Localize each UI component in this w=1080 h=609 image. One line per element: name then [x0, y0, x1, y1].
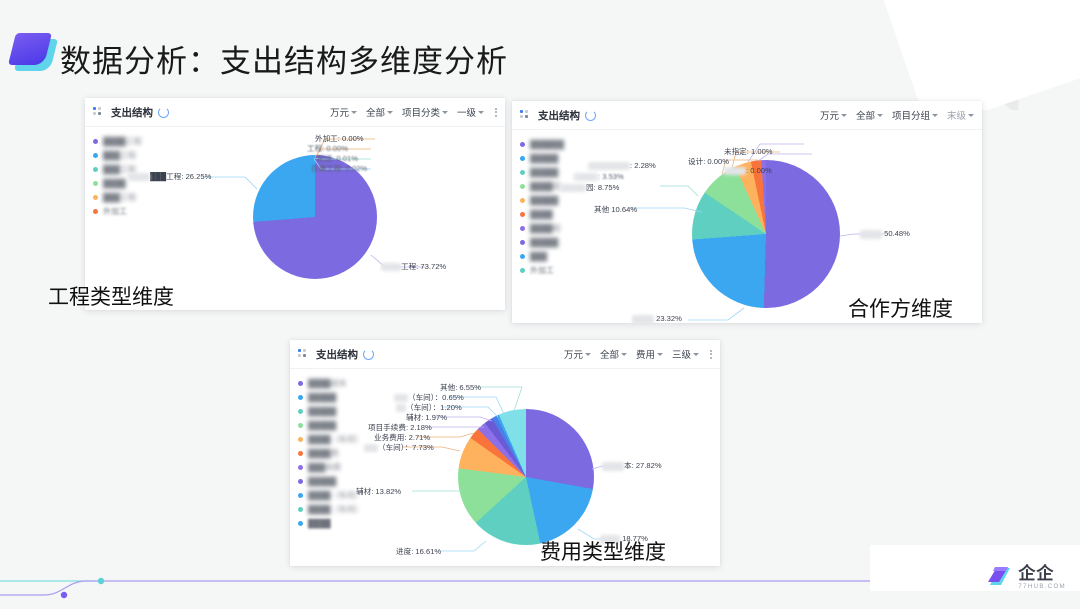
toolbar-scope-select[interactable]: 全部 [856, 108, 883, 122]
grid-icon [93, 107, 105, 118]
brand-url: 77HUB.COM [1018, 583, 1066, 591]
toolbar-unit-select[interactable]: 万元 [564, 347, 591, 361]
pie-label: : 3.53% [574, 172, 624, 181]
kebab-menu-icon[interactable] [495, 108, 497, 117]
pie-label: 园: 8.75% [560, 182, 619, 193]
chevron-down-icon [621, 353, 627, 356]
pie-label: 进度: 16.61% [396, 546, 441, 557]
card-toolbar: 万元 全部 项目分组 末级 [820, 108, 974, 122]
toolbar-dimension-select[interactable]: 项目分组 [892, 108, 938, 122]
pie-label: 本: 27.82% [602, 460, 662, 471]
chart-card-engineering[interactable]: 支出结构 万元 全部 项目分类 一级 ████工程███工程███工程█████… [85, 98, 505, 310]
pie-label: 23.32% [632, 314, 682, 323]
chevron-down-icon [841, 114, 847, 117]
chevron-down-icon [585, 353, 591, 356]
toolbar-unit-select[interactable]: 万元 [820, 108, 847, 122]
toolbar-dimension-select[interactable]: 项目分类 [402, 105, 448, 119]
grid-icon [298, 349, 310, 360]
toolbar-unit-select[interactable]: 万元 [330, 105, 357, 119]
pie-label: 辅材: 13.82% [356, 486, 401, 497]
chart-card-partner[interactable]: 支出结构 万元 全部 项目分组 末级 ████████████████████园… [512, 101, 982, 323]
chevron-down-icon [387, 111, 393, 114]
chart-card-expense[interactable]: 支出结构 万元 全部 费用 三级 ████成本█████████████████… [290, 340, 720, 566]
seven-logo-mark [986, 565, 1012, 591]
grid-icon [520, 110, 532, 121]
chevron-down-icon [657, 353, 663, 356]
chevron-down-icon [442, 111, 448, 114]
toolbar-level-select[interactable]: 三级 [672, 347, 699, 361]
pie-label: （车间）：7.73% [364, 442, 434, 453]
card-header: 支出结构 万元 全部 项目分类 一级 [85, 98, 505, 127]
toolbar-level-select[interactable]: 一级 [457, 105, 484, 119]
pie-label: : 2.28% [588, 161, 656, 170]
chevron-down-icon [478, 111, 484, 114]
card-header: 支出结构 万元 全部 项目分组 末级 [512, 101, 982, 130]
caption-engineering: 工程类型维度 [48, 281, 174, 311]
card-title: 支出结构 [538, 108, 580, 123]
page-title: 数据分析：支出结构多维度分析 [60, 36, 508, 81]
pie-label: 工程: 73.72% [381, 261, 446, 272]
card-title: 支出结构 [316, 347, 358, 362]
toolbar-level-select[interactable]: 末级 [947, 108, 974, 122]
toolbar-dimension-select[interactable]: 费用 [636, 347, 663, 361]
pie-label: ███工程: 26.25% [128, 171, 211, 182]
card-toolbar: 万元 全部 项目分类 一级 [330, 105, 497, 119]
brand-logo-mark [12, 33, 56, 73]
refresh-icon[interactable] [585, 110, 596, 121]
toolbar-scope-select[interactable]: 全部 [366, 105, 393, 119]
pie-label: 设计: 0.00% [688, 156, 729, 167]
caption-partner: 合作方维度 [848, 293, 953, 323]
brand-name-cn: 企企 [1018, 565, 1054, 583]
chevron-down-icon [351, 111, 357, 114]
chevron-down-icon [968, 114, 974, 117]
card-title: 支出结构 [111, 105, 153, 120]
slide-header: 数据分析：支出结构多维度分析 [0, 0, 1080, 96]
pie-label: 在建工程: 0.02% [311, 163, 367, 174]
pie-label: 其他 10.64% [594, 204, 637, 215]
card-header: 支出结构 万元 全部 费用 三级 [290, 340, 720, 369]
pie-label: 未指定: 1.00% [724, 146, 773, 157]
chevron-down-icon [932, 114, 938, 117]
footer-brand: 企企 77HUB.COM [986, 565, 1066, 591]
refresh-icon[interactable] [158, 107, 169, 118]
kebab-menu-icon[interactable] [710, 350, 712, 359]
refresh-icon[interactable] [363, 349, 374, 360]
pie-label: : 0.00% [724, 166, 772, 175]
pie-label: 50.48% [860, 229, 910, 239]
chevron-down-icon [877, 114, 883, 117]
chevron-down-icon [693, 353, 699, 356]
toolbar-scope-select[interactable]: 全部 [600, 347, 627, 361]
card-toolbar: 万元 全部 费用 三级 [564, 347, 712, 361]
